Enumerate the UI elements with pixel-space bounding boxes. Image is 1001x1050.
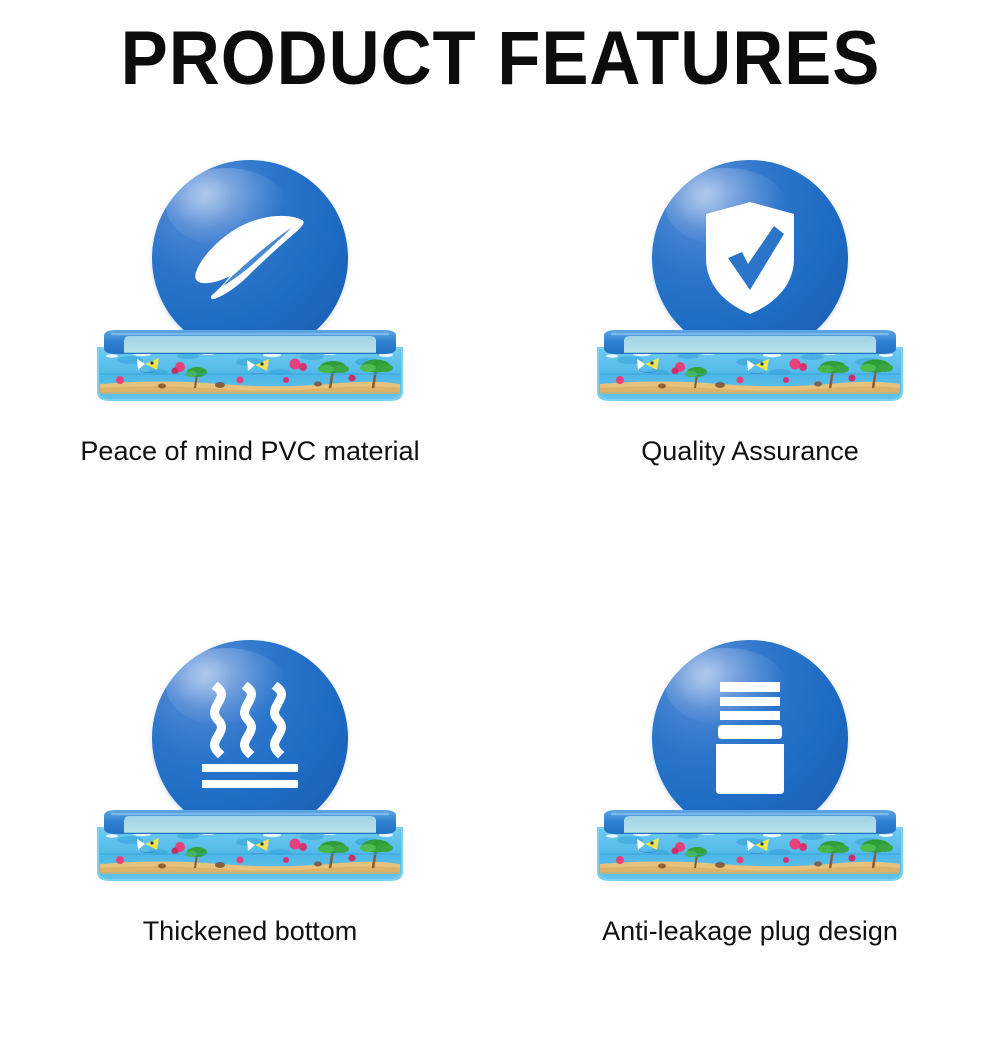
feature-caption: Quality Assurance xyxy=(500,434,1000,468)
inflatable-pool-graphic xyxy=(90,802,410,882)
feature-card-pvc-material: Peace of mind PVC material xyxy=(0,150,500,570)
inflatable-pool-graphic xyxy=(590,322,910,402)
features-grid: Peace of mind PVC material xyxy=(0,150,1001,990)
feature-card-thickened-bottom: Thickened bottom xyxy=(0,630,500,1050)
feature-card-quality-assurance: Quality Assurance xyxy=(500,150,1000,570)
product-features-infographic: PRODUCT FEATURES xyxy=(0,0,1001,1001)
feature-card-anti-leakage-plug: Anti-leakage plug design xyxy=(500,630,1000,1050)
feature-caption: Anti-leakage plug design xyxy=(500,914,1000,948)
inflatable-pool-graphic xyxy=(590,802,910,882)
feature-caption: Peace of mind PVC material xyxy=(0,434,500,468)
feature-illustration xyxy=(500,630,1000,890)
feature-illustration xyxy=(500,150,1000,410)
feature-illustration xyxy=(0,150,500,410)
feature-illustration xyxy=(0,630,500,890)
page-title: PRODUCT FEATURES xyxy=(35,16,966,102)
inflatable-pool-graphic xyxy=(90,322,410,402)
feature-caption: Thickened bottom xyxy=(0,914,500,948)
